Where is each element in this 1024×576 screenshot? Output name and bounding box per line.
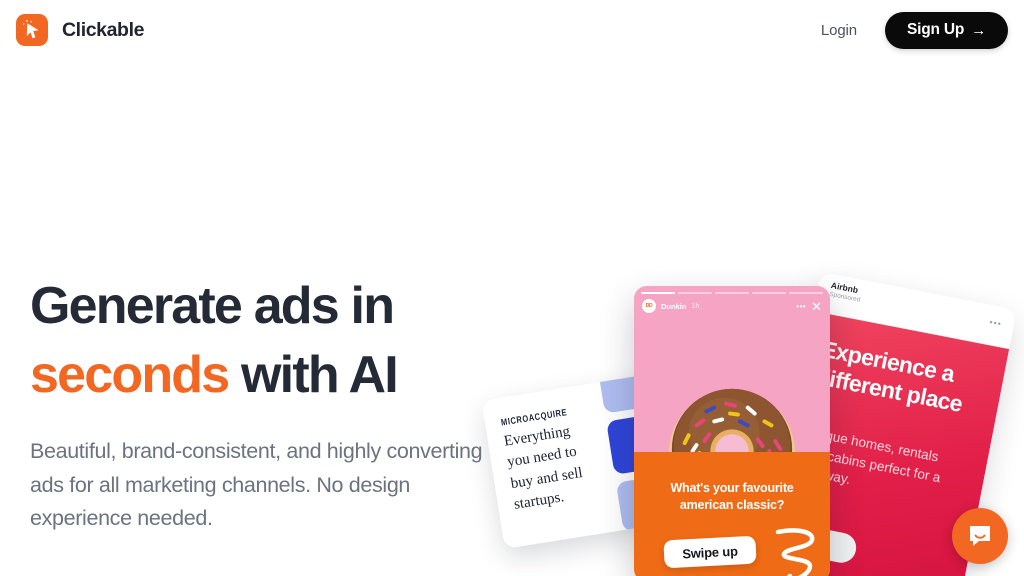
- site-header: Clickable Login Sign Up →: [0, 0, 1024, 60]
- story-timestamp: 1h: [691, 303, 699, 310]
- brand-logo[interactable]: Clickable: [16, 14, 144, 46]
- swipe-up-button[interactable]: Swipe up: [663, 536, 756, 569]
- story-brand-name: Dunkin: [661, 302, 686, 311]
- story-progress-bars: [641, 292, 823, 294]
- login-link[interactable]: Login: [815, 18, 863, 43]
- ad-card-dunkin-story[interactable]: DD Dunkin 1h ••• ✕: [634, 286, 830, 576]
- ellipsis-icon[interactable]: •••: [796, 302, 806, 311]
- airbnb-headline: Experience a different place: [814, 336, 982, 421]
- headline-line-2-rest: with AI: [228, 346, 397, 404]
- arrow-right-icon: →: [971, 22, 986, 39]
- landing-page: Clickable Login Sign Up → Generate ads i…: [0, 0, 1024, 576]
- squiggle-arrow-icon: [768, 526, 822, 576]
- close-icon[interactable]: ✕: [811, 300, 822, 313]
- avatar: DD: [642, 299, 656, 313]
- chat-bubble-icon: [966, 522, 994, 550]
- ad-mockups-illustration: MICROACQUIRE Everything you need to buy …: [470, 240, 1024, 576]
- story-question-text: What's your favourite american classic?: [644, 480, 820, 513]
- intercom-chat-button[interactable]: [952, 508, 1008, 564]
- page-title: Generate ads in seconds with AI: [30, 272, 490, 409]
- brand-name: Clickable: [62, 19, 144, 42]
- hero-copy: Generate ads in seconds with AI Beautifu…: [30, 272, 490, 535]
- story-orange-panel: What's your favourite american classic? …: [634, 452, 830, 576]
- headline-highlight: seconds: [30, 346, 228, 404]
- cursor-click-icon: [16, 14, 48, 46]
- hero-subcopy: Beautiful, brand-consistent, and highly …: [30, 435, 490, 535]
- ellipsis-icon[interactable]: •••: [989, 317, 1003, 329]
- header-nav: Login Sign Up →: [815, 12, 1008, 49]
- sign-up-label: Sign Up: [907, 21, 964, 39]
- sign-up-button[interactable]: Sign Up →: [885, 12, 1008, 49]
- microacquire-ad-text: Everything you need to buy and sell star…: [503, 417, 607, 516]
- headline-line-1: Generate ads in: [30, 277, 393, 335]
- story-header: DD Dunkin 1h ••• ✕: [642, 297, 822, 315]
